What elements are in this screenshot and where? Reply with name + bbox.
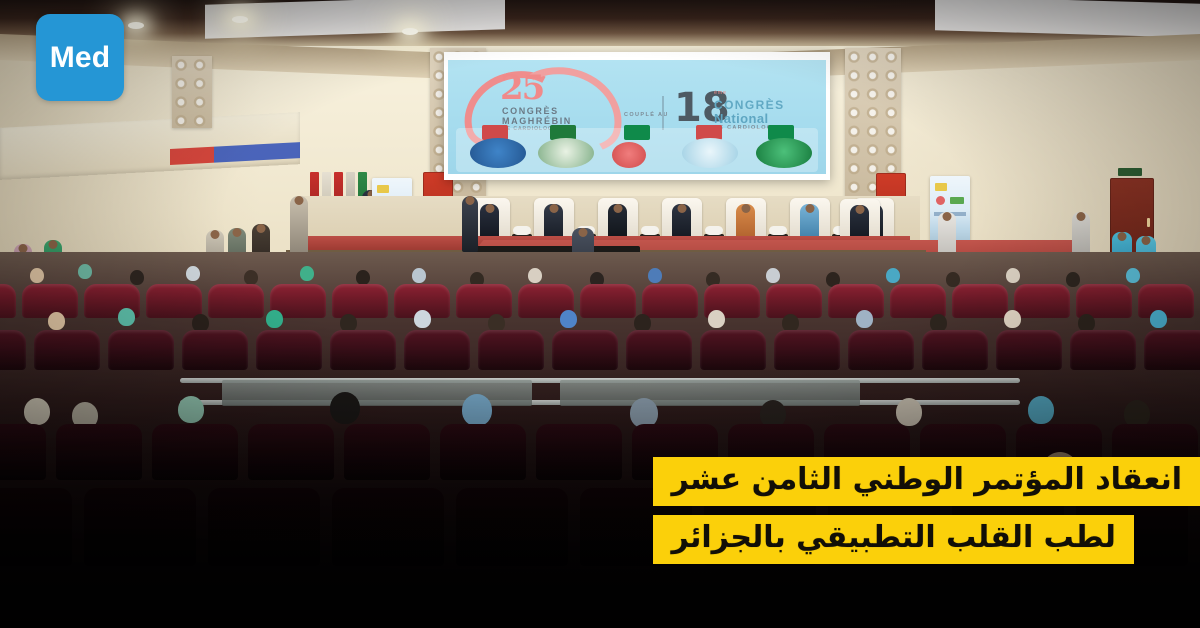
panelist xyxy=(736,204,755,240)
table-flowers xyxy=(513,226,531,235)
sponsor-logo xyxy=(538,138,594,168)
rollup-heart-icon xyxy=(936,196,945,205)
person-head xyxy=(677,204,686,213)
desk-panel xyxy=(560,380,860,406)
banner-edition-25: 25 xyxy=(500,68,543,108)
person-head xyxy=(741,204,750,213)
banner-national-subtitle: National xyxy=(714,111,768,126)
window-reflection xyxy=(170,142,300,165)
headline-line-2: لطب القلب التطبيقي بالجزائر xyxy=(653,515,1133,564)
exit-sign xyxy=(1118,168,1142,176)
table-flowers xyxy=(641,226,659,235)
rollup-badge xyxy=(950,197,964,204)
table-flowers xyxy=(769,226,787,235)
headline-line-1: انعقاد المؤتمر الوطني الثامن عشر xyxy=(653,457,1200,506)
panelist xyxy=(800,204,819,240)
person-head xyxy=(211,230,220,239)
person-head xyxy=(257,224,266,233)
person-head xyxy=(1118,232,1127,241)
rollup-logo xyxy=(377,185,389,193)
stage-projection-screen: 25 ème CONGRÈS MAGHRÉBIN DE CARDIOLOGIE … xyxy=(444,52,830,180)
person-head xyxy=(943,212,952,221)
audience-area xyxy=(0,252,1200,628)
person-head xyxy=(855,205,864,214)
ceiling-downlight xyxy=(402,28,418,35)
sponsor-logo xyxy=(470,138,526,168)
person-head xyxy=(1142,236,1151,245)
banner-edition-25-suffix: ème xyxy=(540,70,553,76)
person-head xyxy=(485,204,494,213)
banner-maghreb-title: CONGRÈS xyxy=(502,106,559,116)
sponsor-logo xyxy=(682,138,738,168)
attendee-standing xyxy=(290,196,308,258)
panelist xyxy=(480,204,499,240)
panelist xyxy=(544,204,563,240)
banner-national-title: CONGRÈS xyxy=(714,98,784,112)
sponsor-logo xyxy=(612,142,646,168)
panelist xyxy=(608,204,627,240)
banner-sponsor-bar xyxy=(456,128,818,172)
congress-banner: 25 ème CONGRÈS MAGHRÉBIN DE CARDIOLOGIE … xyxy=(448,60,826,174)
person-head xyxy=(466,196,475,205)
person-head xyxy=(49,240,58,249)
logo-text: Med xyxy=(50,43,111,73)
banner-edition-18-suffix: ème xyxy=(714,90,727,96)
person-head xyxy=(613,204,622,213)
panelist xyxy=(672,204,691,240)
person-head xyxy=(579,228,588,237)
person-head xyxy=(1077,212,1086,221)
sponsor-flag xyxy=(624,125,650,140)
news-thumbnail-card: 25 ème CONGRÈS MAGHRÉBIN DE CARDIOLOGIE … xyxy=(0,0,1200,628)
med-logo-watermark[interactable]: Med xyxy=(36,14,124,101)
rollup-logo xyxy=(935,183,947,191)
person-head xyxy=(295,196,304,205)
ceiling-downlight xyxy=(128,22,144,29)
table-flowers xyxy=(705,226,723,235)
ceiling-downlight xyxy=(232,16,248,23)
person-head xyxy=(805,204,814,213)
videographer xyxy=(462,196,478,252)
banner-divider xyxy=(662,96,664,130)
lattice-wall-panel xyxy=(172,56,212,128)
person-head xyxy=(233,228,242,237)
headline-overlay: انعقاد المؤتمر الوطني الثامن عشر لطب الق… xyxy=(653,457,1200,564)
person-head xyxy=(549,204,558,213)
sponsor-logo xyxy=(756,138,812,168)
